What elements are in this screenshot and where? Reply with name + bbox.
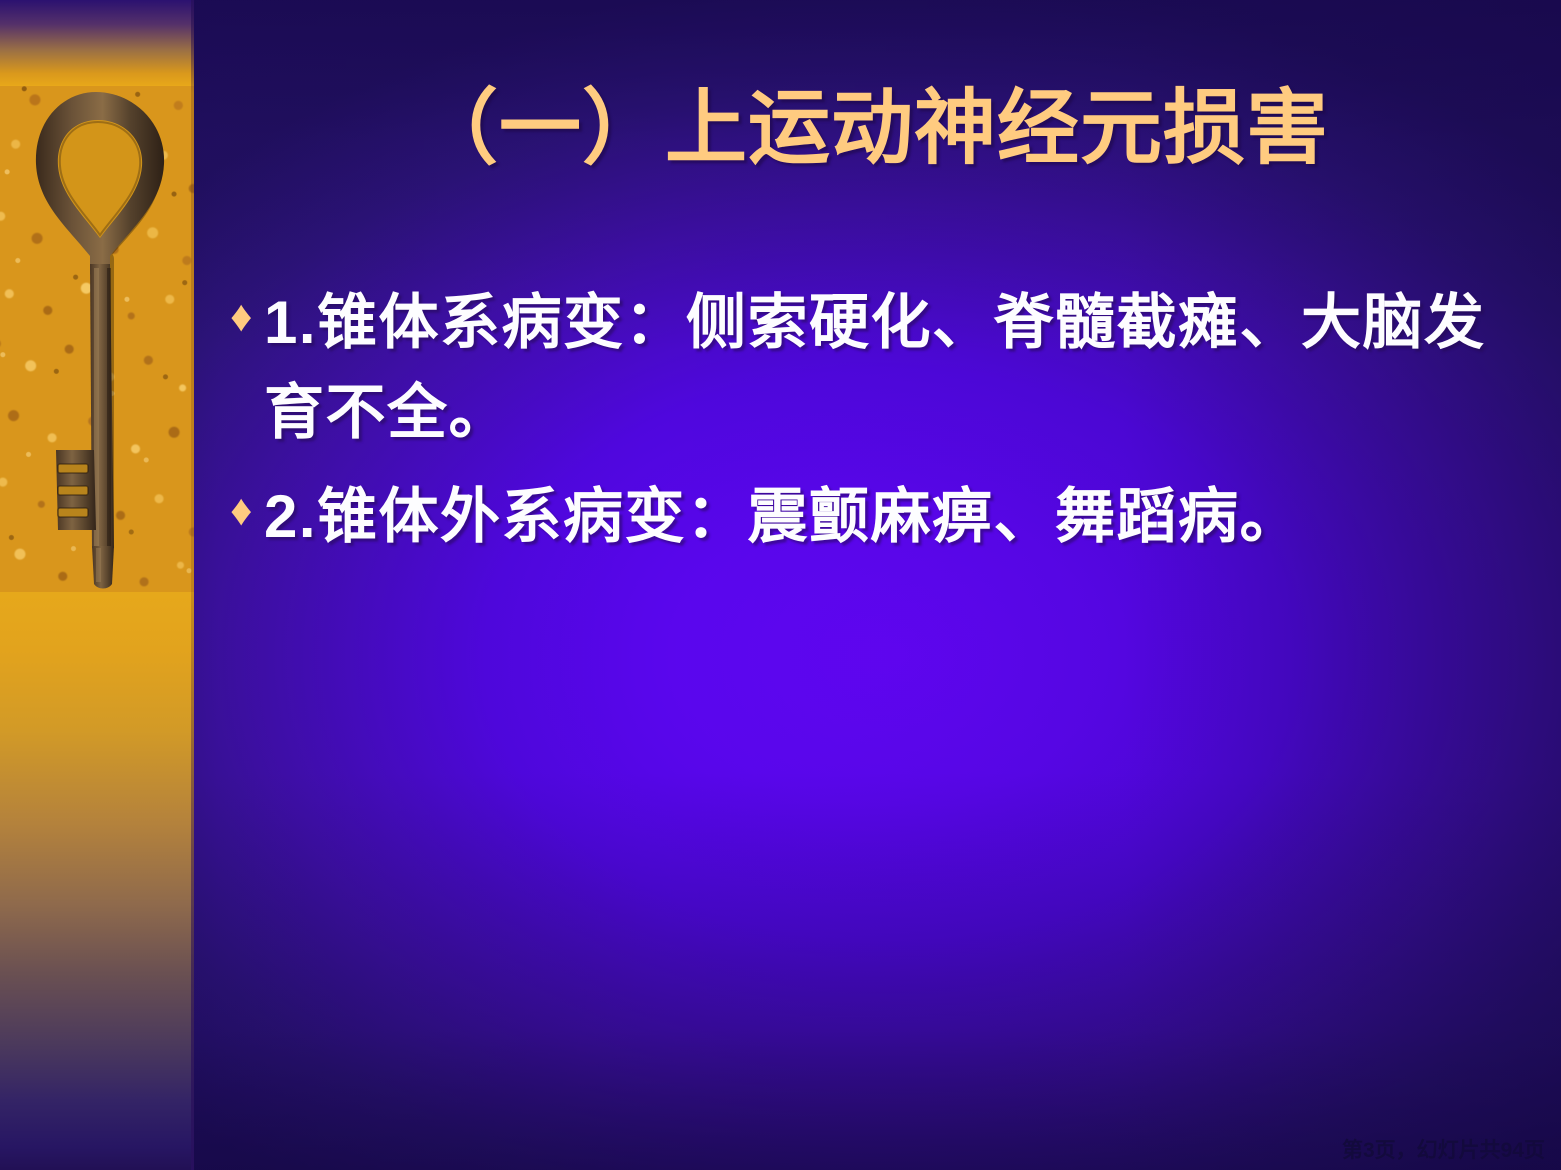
sidebar-edge — [191, 0, 194, 1170]
diamond-bullet-icon: ♦ — [230, 468, 264, 554]
sidebar-bottom-fade — [0, 592, 194, 1170]
slide-footer-page-indicator: 第3页，幻灯片共94页 — [1342, 1134, 1545, 1164]
presentation-slide: （一）上运动神经元损害 ♦ 1.锥体系病变：侧索硬化、脊髓截瘫、大脑发育不全。 … — [0, 0, 1561, 1170]
list-item-text: 2.锥体外系病变：震颤麻痹、舞蹈病。 — [264, 472, 1503, 562]
key-graphic — [22, 78, 172, 594]
diamond-bullet-icon: ♦ — [230, 274, 264, 360]
slide-content: （一）上运动神经元损害 ♦ 1.锥体系病变：侧索硬化、脊髓截瘫、大脑发育不全。 … — [194, 0, 1561, 1170]
sidebar-decoration — [0, 0, 194, 1170]
key-icon — [22, 78, 172, 594]
slide-title: （一）上运动神经元损害 — [194, 88, 1551, 170]
list-item: ♦ 2.锥体外系病变：震颤麻痹、舞蹈病。 — [230, 472, 1503, 562]
sidebar-photo — [0, 60, 194, 594]
list-item-text: 1.锥体系病变：侧索硬化、脊髓截瘫、大脑发育不全。 — [264, 278, 1503, 458]
bullet-list: ♦ 1.锥体系病变：侧索硬化、脊髓截瘫、大脑发育不全。 ♦ 2.锥体外系病变：震… — [230, 278, 1503, 576]
sidebar-top-fade — [0, 0, 194, 86]
list-item: ♦ 1.锥体系病变：侧索硬化、脊髓截瘫、大脑发育不全。 — [230, 278, 1503, 458]
